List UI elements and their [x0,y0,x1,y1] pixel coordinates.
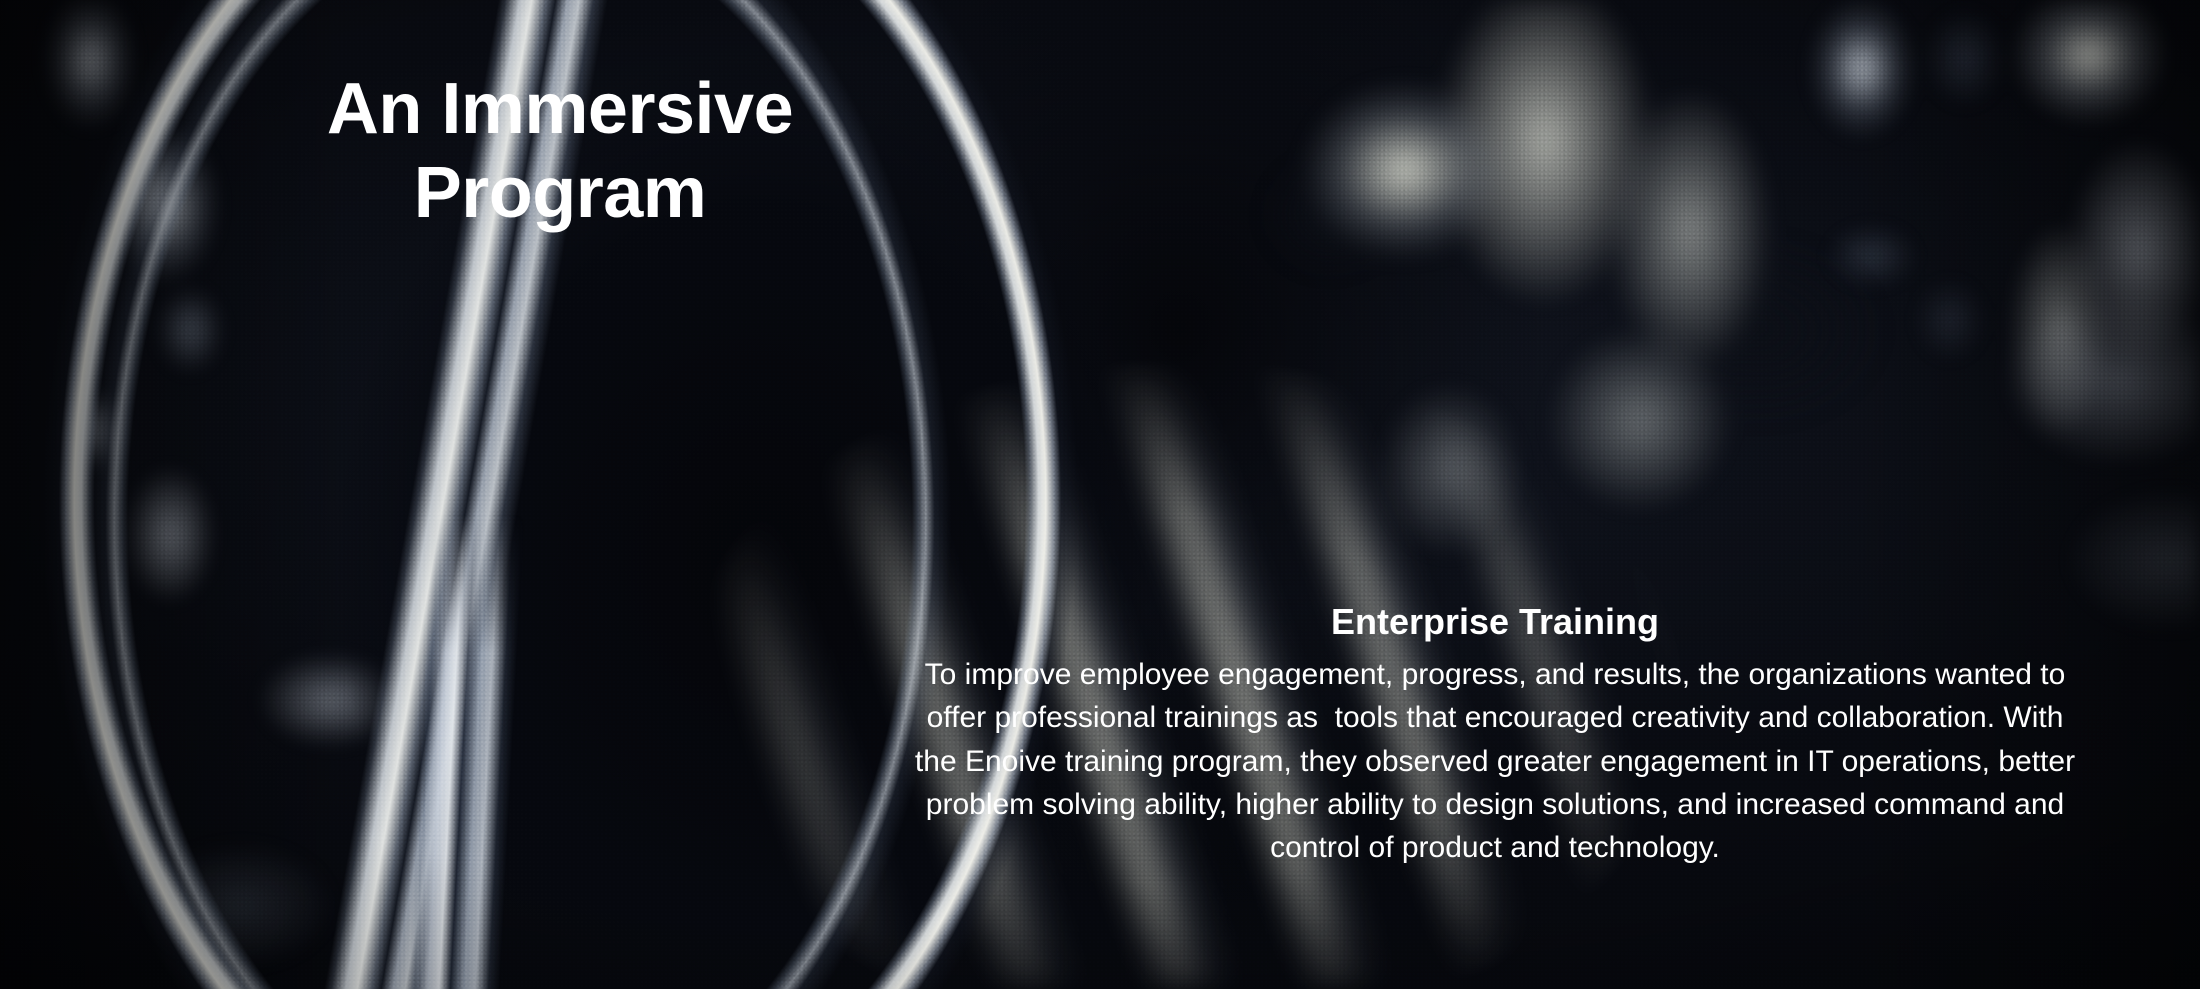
hero-heading: An Immersive Program [260,68,860,235]
content-body-text: To improve employee engagement, progress… [910,653,2080,869]
content-title: Enterprise Training [910,600,2080,643]
content-block: Enterprise Training To improve employee … [910,600,2080,869]
hero-banner: An Immersive Program Enterprise Training… [0,0,2200,989]
text-overlay: An Immersive Program Enterprise Training… [0,0,2200,989]
